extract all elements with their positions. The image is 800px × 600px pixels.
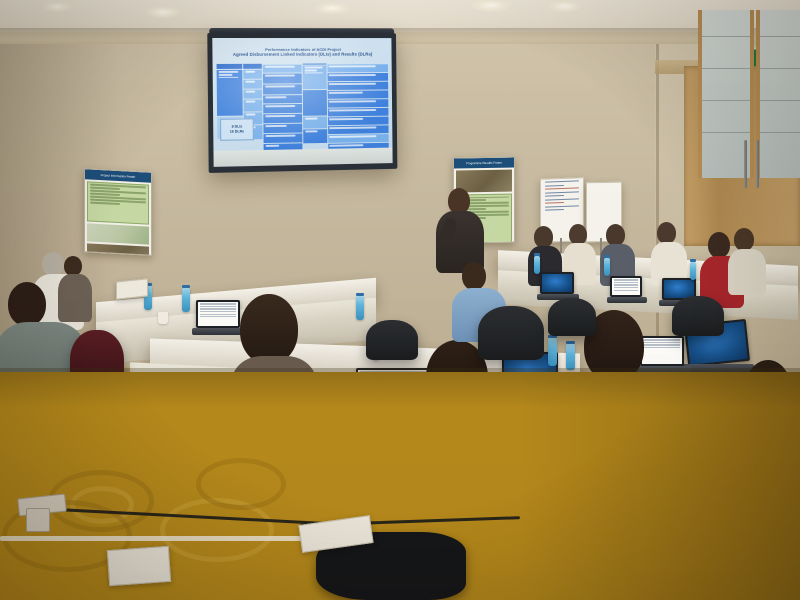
carpet-swirl-5 [196, 458, 286, 510]
downlight-5 [548, 0, 582, 12]
document-stack-left [116, 278, 148, 299]
dli-summary-badge: 8 DLIs 16 DLRs [220, 118, 254, 140]
chair-mid-2[interactable] [478, 306, 544, 360]
left-poster-green-panel [87, 181, 149, 224]
water-bottle-front-1[interactable] [548, 338, 557, 366]
center-poster-title: Programme Results Poster [454, 157, 514, 168]
door-leaf-right[interactable] [756, 10, 800, 178]
water-bottle-back-3[interactable] [690, 262, 696, 280]
slide-column-dlr-description [327, 63, 389, 143]
chair-back-row-2[interactable] [672, 296, 724, 336]
slide-column-dli-description [263, 64, 303, 144]
slide-canvas: Performance Indicators of ACDI Project A… [212, 38, 392, 151]
presentation-slide: Performance Indicators of ACDI Project A… [212, 38, 392, 151]
ceiling-shadow [0, 28, 800, 40]
door-handle-left[interactable] [744, 140, 747, 188]
coffee-cup-left[interactable] [158, 312, 168, 324]
downlight-1 [42, 1, 72, 12]
projection-screen: Performance Indicators of ACDI Project A… [207, 33, 397, 173]
workshop-room-photo: EXIT Performance Indicators of ACDI Proj… [0, 0, 800, 600]
power-adapter[interactable] [26, 508, 50, 532]
slide-title: Performance Indicators of ACDI Project A… [215, 40, 388, 57]
downlight-2 [146, 6, 180, 18]
water-bottle-back-2[interactable] [604, 258, 610, 276]
chair-mid-3[interactable] [366, 320, 418, 360]
door-handle-right[interactable] [756, 140, 759, 188]
water-bottle-left-2[interactable] [182, 288, 190, 312]
floor-shadow-right [520, 372, 800, 600]
chair-back-row-1[interactable] [548, 298, 596, 336]
water-bottle-left-3[interactable] [356, 296, 364, 320]
left-poster-title: Project Information Poster [85, 169, 151, 182]
left-wall-poster: Project Information Poster [84, 168, 152, 256]
water-bottle-front-2[interactable] [566, 344, 575, 370]
slide-column-phase [303, 64, 327, 144]
dlr-count: 16 DLRs [221, 129, 253, 134]
downlight-3 [314, 2, 350, 14]
floor-papers [107, 546, 171, 586]
water-bottle-back-1[interactable] [534, 256, 540, 274]
slide-title-line2: Agreed Disbursement Linked Indicators (D… [215, 52, 388, 58]
left-poster-map [87, 223, 149, 244]
